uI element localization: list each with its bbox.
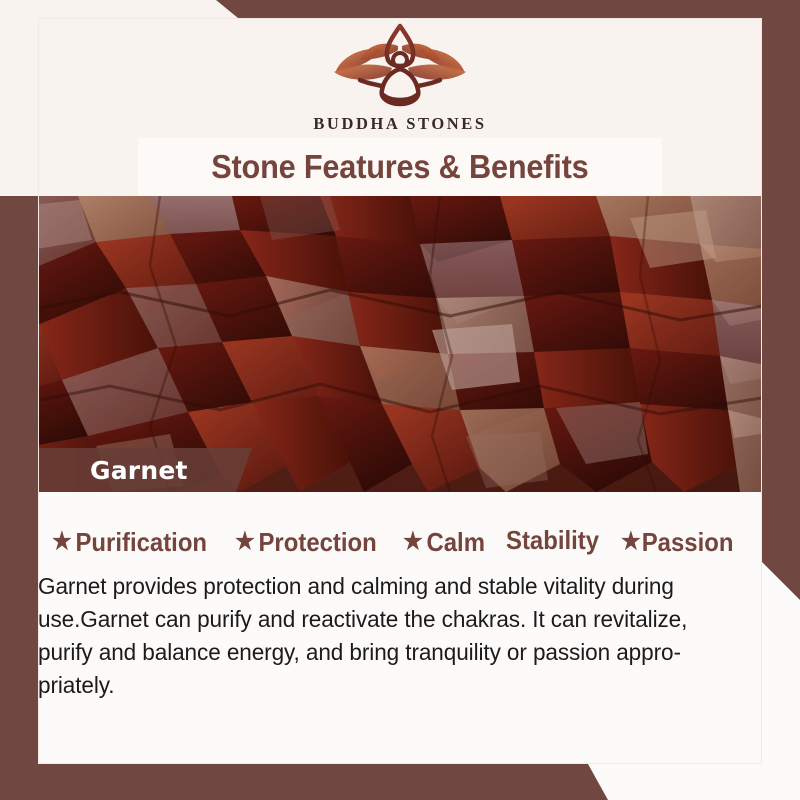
benefit-item: ★ Purification (52, 527, 207, 558)
product-info-card: BUDDHA STONES (0, 0, 800, 800)
page-title: Stone Features & Benefits (211, 148, 588, 186)
benefit-label: Calm (426, 527, 484, 558)
card-content: ★ Purification ★ Protection ★ Calm Stabi… (0, 492, 800, 764)
benefit-label: Protection (258, 527, 376, 558)
benefit-item: ★ Passion (621, 527, 733, 558)
frame-left-bar (0, 196, 38, 766)
star-icon: ★ (403, 530, 423, 554)
stone-photo (0, 196, 800, 492)
benefits-list: ★ Purification ★ Protection ★ Calm Stabi… (52, 525, 752, 558)
section-title-band: Stone Features & Benefits (138, 138, 662, 196)
star-icon: ★ (52, 530, 72, 554)
benefit-label: Passion (642, 527, 734, 558)
star-icon: ★ (621, 530, 641, 554)
brand-logo: BUDDHA STONES (0, 22, 800, 134)
garnet-crystals-image (0, 196, 800, 492)
stone-description: Garnet provides protection and calming a… (38, 570, 727, 702)
frame-right-bar (762, 0, 800, 600)
benefit-item: Stability (506, 525, 599, 556)
stone-name: Garnet (90, 456, 188, 485)
benefit-item: ★ Protection (235, 527, 377, 558)
benefit-label: Purification (75, 527, 207, 558)
benefit-label: Stability (506, 525, 599, 556)
star-icon: ★ (235, 530, 255, 554)
benefit-item: ★ Calm (403, 527, 485, 558)
brand-name: BUDDHA STONES (313, 114, 486, 134)
lotus-meditation-icon (320, 22, 480, 112)
